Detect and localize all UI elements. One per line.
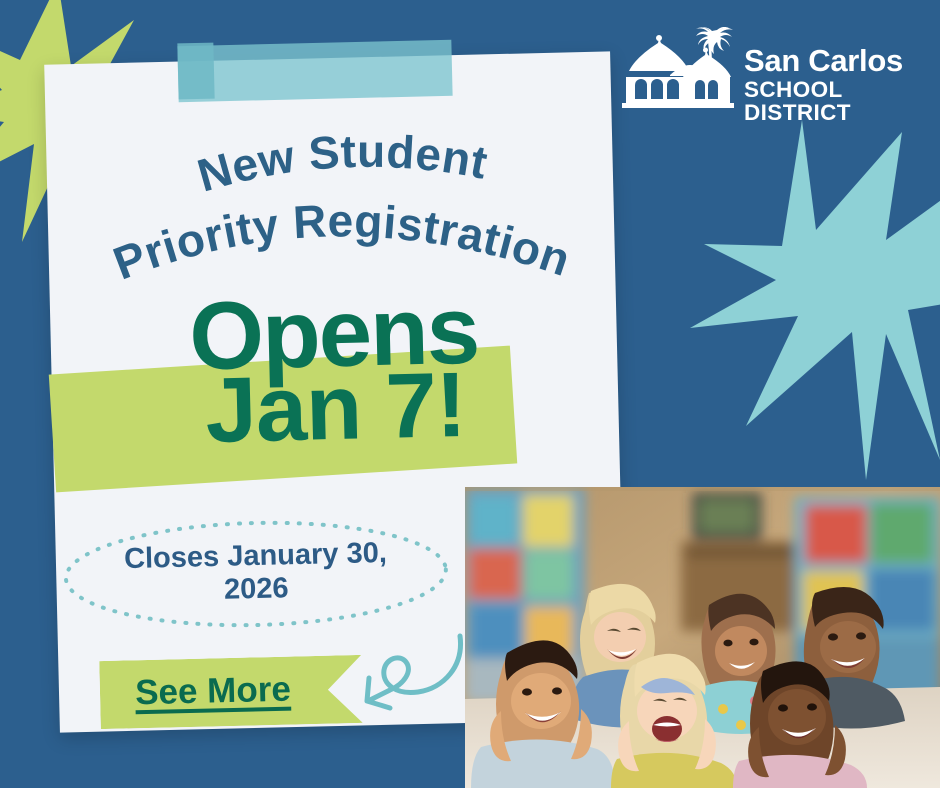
see-more-label: See More [100, 669, 327, 714]
curly-arrow-icon [352, 622, 472, 718]
schoolhouse-icon [620, 27, 738, 115]
logo-line-1: San Carlos [744, 45, 934, 76]
teal-accent-bar-left [177, 43, 214, 100]
headline-line-1: New Student [192, 125, 492, 202]
announcement-line-2: Jan 7! [51, 355, 619, 460]
announcement-block: Opens Jan 7! [50, 273, 621, 501]
see-more-button[interactable]: See More [99, 655, 363, 729]
teal-accent-bar [177, 40, 452, 102]
star-teal-icon [690, 120, 940, 480]
students-photo [465, 487, 940, 788]
flyer-canvas: New Student Priority Registration Opens … [0, 0, 940, 788]
district-logo: San Carlos SCHOOL DISTRICT [620, 27, 932, 115]
logo-text: San Carlos SCHOOL DISTRICT [744, 45, 934, 124]
logo-line-2: SCHOOL DISTRICT [744, 79, 934, 124]
deadline-text: Closes January 30, 2026 [77, 536, 434, 610]
